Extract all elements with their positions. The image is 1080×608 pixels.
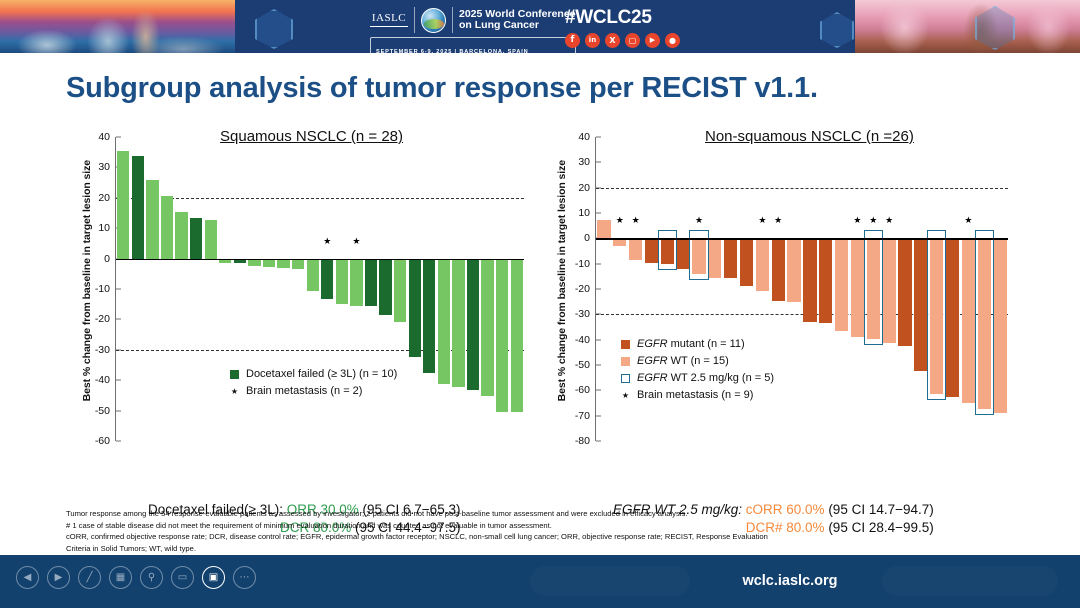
more-options-button[interactable]: ⋯ — [233, 566, 256, 589]
legend-label: EGFR WT (n = 15) — [637, 353, 729, 370]
legend-label: Docetaxel failed (≥ 3L) (n = 10) — [246, 366, 397, 383]
y-tick-label: -70 — [575, 410, 596, 422]
y-axis-label-left: Best % change from baseline in target le… — [70, 128, 104, 433]
logo-divider — [452, 7, 453, 33]
bar — [161, 196, 173, 259]
bar — [379, 259, 391, 316]
conference-banner: IASLC 2025 World Conference on Lung Canc… — [0, 0, 1080, 53]
footnote-line: Tumor response among the 54 response-eva… — [66, 508, 1026, 520]
slide-layout-button[interactable]: ▦ — [109, 566, 132, 589]
y-tick-label: -10 — [575, 258, 596, 270]
presentation-bottom-bar: ◀ ▶ ╱ ▦ ⚲ ▭ ▣ ⋯ wclc.iaslc.org — [0, 555, 1080, 608]
legend-item: ★Brain metastasis (n = 2) — [230, 383, 397, 400]
legend-swatch — [621, 357, 630, 366]
legend-item: EGFR mutant (n = 11) — [621, 336, 774, 353]
bar — [350, 259, 362, 307]
bar — [423, 259, 435, 374]
brain-metastasis-marker: ★ — [853, 216, 861, 226]
bottom-pill-right — [882, 566, 1058, 596]
y-tick-label: -30 — [575, 308, 596, 320]
legend-label: Brain metastasis (n = 2) — [246, 383, 362, 400]
bar — [321, 259, 333, 300]
y-tick-label: 10 — [98, 222, 116, 234]
y-tick-label: 10 — [578, 207, 596, 219]
bar — [819, 238, 832, 323]
brain-metastasis-marker: ★ — [885, 216, 893, 226]
bar — [365, 259, 377, 307]
bar — [597, 220, 610, 238]
brain-metastasis-marker: ★ — [695, 216, 703, 226]
footnotes: Tumor response among the 54 response-eva… — [66, 508, 1026, 554]
bar — [190, 218, 202, 258]
bar — [724, 238, 737, 278]
y-tick-label: 30 — [578, 156, 596, 168]
legend-nonsquamous: EGFR mutant (n = 11)EGFR WT (n = 15)EGFR… — [621, 336, 774, 404]
zero-line — [596, 238, 1008, 240]
bar — [394, 259, 406, 322]
bar — [132, 156, 144, 258]
bar — [787, 238, 800, 302]
notes-panel-button[interactable]: ▭ — [171, 566, 194, 589]
banner-photo-right — [855, 0, 1080, 53]
camera-video-button[interactable]: ▣ — [202, 566, 225, 589]
highlight-box — [927, 230, 946, 400]
legend-item: Docetaxel failed (≥ 3L) (n = 10) — [230, 366, 397, 383]
banner-photo-left — [0, 0, 235, 53]
bar — [452, 259, 464, 387]
y-tick-label: -60 — [95, 435, 116, 447]
y-tick-label: -60 — [575, 384, 596, 396]
bar — [946, 238, 959, 396]
brain-metastasis-marker: ★ — [964, 216, 972, 226]
bar — [481, 259, 493, 396]
chart-nonsquamous: Best % change from baseline in target le… — [545, 128, 1040, 468]
bar — [205, 220, 217, 259]
bar — [438, 259, 450, 385]
bar — [629, 238, 642, 260]
y-tick-label: -20 — [95, 313, 116, 325]
zoom-search-button[interactable]: ⚲ — [140, 566, 163, 589]
youtube-icon[interactable]: ▶ — [645, 33, 660, 48]
logo-divider — [414, 7, 415, 33]
bar — [898, 238, 911, 346]
iaslc-wordmark: IASLC — [370, 13, 408, 28]
legend-star-marker: ★ — [621, 391, 630, 400]
conference-hashtag: #WCLC25 — [565, 8, 680, 28]
footnote-line: # 1 case of stable disease did not meet … — [66, 520, 1026, 532]
conference-date-location-bar: SEPTEMBER 6-9, 2025 | BARCELONA, SPAIN — [370, 37, 576, 53]
legend-label: EGFR mutant (n = 11) — [637, 336, 745, 353]
previous-slide-button[interactable]: ◀ — [16, 566, 39, 589]
hexagon-decoration — [820, 12, 854, 48]
social-icons: f in X ▢ ▶ ● — [565, 33, 680, 48]
conference-name-line2: on Lung Cancer — [459, 20, 576, 32]
bar — [175, 212, 187, 258]
instagram-icon[interactable]: ▢ — [625, 33, 640, 48]
y-tick-label: -30 — [95, 344, 116, 356]
legend-squamous: Docetaxel failed (≥ 3L) (n = 10)★Brain m… — [230, 366, 397, 400]
iaslc-rule — [370, 26, 408, 27]
legend-label: Brain metastasis (n = 9) — [637, 387, 753, 404]
brain-metastasis-marker: ★ — [352, 237, 360, 247]
bar — [708, 238, 721, 278]
y-tick-label: -20 — [575, 283, 596, 295]
hexagon-decoration — [255, 9, 293, 49]
wechat-icon[interactable]: ● — [665, 33, 680, 48]
bar — [756, 238, 769, 290]
globe-icon — [421, 8, 446, 33]
x-twitter-icon[interactable]: X — [605, 33, 620, 48]
bar — [962, 238, 975, 403]
legend-item: EGFR WT 2.5 mg/kg (n = 5) — [621, 370, 774, 387]
y-tick-label: 40 — [578, 131, 596, 143]
conference-url: wclc.iaslc.org — [700, 573, 880, 589]
y-tick-label: 20 — [578, 182, 596, 194]
y-tick-label: 40 — [98, 131, 116, 143]
y-tick-label: 0 — [104, 253, 116, 265]
bar — [803, 238, 816, 322]
brain-metastasis-marker: ★ — [616, 216, 624, 226]
bar — [511, 259, 523, 412]
bar — [496, 259, 508, 412]
bar — [117, 151, 129, 259]
pen-annotate-button[interactable]: ╱ — [78, 566, 101, 589]
highlight-box — [658, 230, 677, 270]
y-tick-label: -50 — [575, 359, 596, 371]
brain-metastasis-marker: ★ — [632, 216, 640, 226]
brain-metastasis-marker: ★ — [758, 216, 766, 226]
y-tick-label: -40 — [95, 374, 116, 386]
legend-item: ★Brain metastasis (n = 9) — [621, 387, 774, 404]
zero-line — [116, 259, 524, 261]
y-tick-label: -10 — [95, 283, 116, 295]
bar — [835, 238, 848, 330]
bar — [307, 259, 319, 291]
slide-content: Subgroup analysis of tumor response per … — [0, 53, 1080, 555]
iaslc-logo-block: IASLC 2025 World Conference on Lung Canc… — [370, 7, 576, 53]
y-tick-label: 20 — [98, 192, 116, 204]
iaslc-text: IASLC — [370, 13, 408, 24]
bar — [467, 259, 479, 390]
legend-star-marker: ★ — [230, 387, 239, 396]
highlight-box — [975, 230, 994, 415]
bar — [993, 238, 1006, 412]
bar — [882, 238, 895, 343]
bar — [914, 238, 927, 370]
facebook-icon[interactable]: f — [565, 33, 580, 48]
bar — [336, 259, 348, 304]
bar — [740, 238, 753, 286]
bottom-pill-left — [530, 566, 690, 596]
footnote-line: cORR, confirmed objective response rate;… — [66, 531, 1026, 543]
legend-hollow-swatch — [621, 374, 630, 383]
y-tick-label: -50 — [95, 405, 116, 417]
brain-metastasis-marker: ★ — [869, 216, 877, 226]
chart-squamous: Best % change from baseline in target le… — [70, 128, 540, 468]
y-tick-label: -80 — [575, 435, 596, 447]
legend-label: EGFR WT 2.5 mg/kg (n = 5) — [637, 370, 774, 387]
legend-swatch — [621, 340, 630, 349]
y-tick-label: -40 — [575, 334, 596, 346]
brain-metastasis-marker: ★ — [323, 237, 331, 247]
linkedin-icon[interactable]: in — [585, 33, 600, 48]
bar — [645, 238, 658, 263]
y-tick-label: 0 — [584, 232, 596, 244]
bar — [409, 259, 421, 358]
next-slide-button[interactable]: ▶ — [47, 566, 70, 589]
hashtag-block: #WCLC25 f in X ▢ ▶ ● — [565, 8, 680, 48]
page-title: Subgroup analysis of tumor response per … — [66, 72, 818, 105]
bar — [146, 180, 158, 259]
y-tick-label: 30 — [98, 161, 116, 173]
legend-swatch — [230, 370, 239, 379]
presentation-toolbar: ◀ ▶ ╱ ▦ ⚲ ▭ ▣ ⋯ — [16, 566, 256, 589]
footnote-line: Criteria in Solid Tumors; WT, wild type. — [66, 543, 1026, 555]
legend-item: EGFR WT (n = 15) — [621, 353, 774, 370]
bar — [851, 238, 864, 336]
brain-metastasis-marker: ★ — [774, 216, 782, 226]
highlight-box — [864, 230, 883, 345]
bar — [676, 238, 689, 268]
bar — [772, 238, 785, 300]
